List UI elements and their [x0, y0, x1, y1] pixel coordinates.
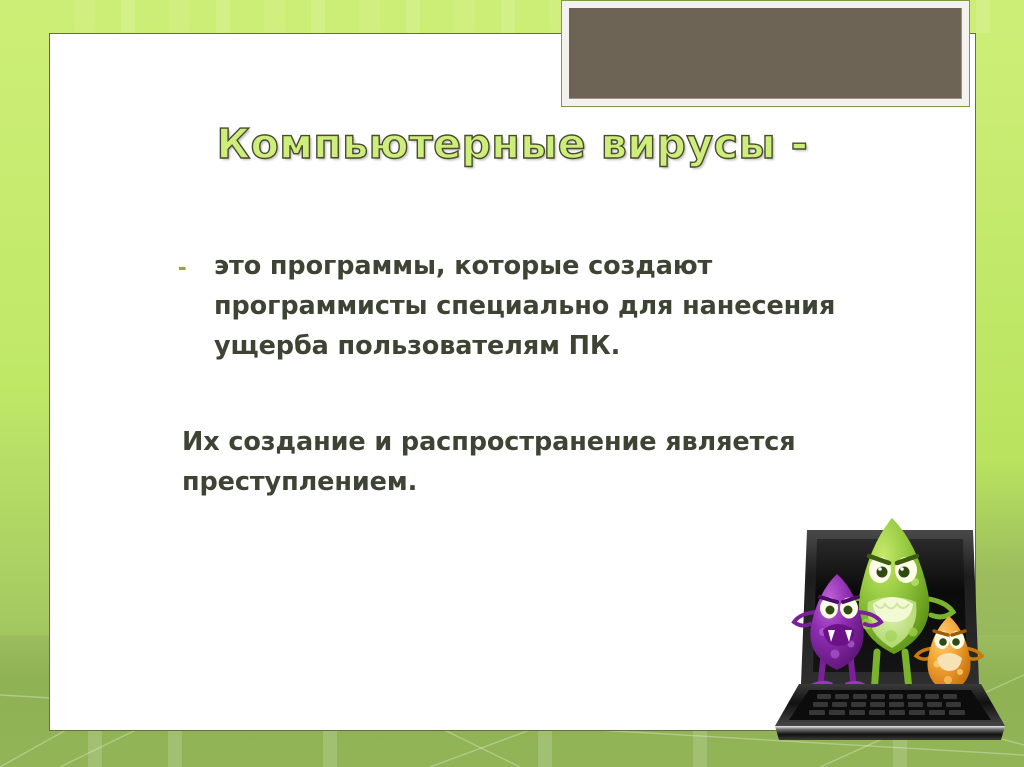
laptop-keyboard-base [775, 684, 1005, 740]
body-text-block: - это программы, которые создают програм… [168, 246, 868, 502]
content-card: Компьютерные вирусы - - это программы, к… [49, 33, 976, 731]
bullet-dash-icon: - [168, 246, 214, 286]
bullet-item: - это программы, которые создают програм… [168, 246, 868, 366]
header-accent-box [561, 0, 970, 107]
slide-background: Компьютерные вирусы - - это программы, к… [0, 0, 1024, 767]
page-title: Компьютерные вирусы - [50, 120, 975, 168]
paragraph-crime: Их создание и распространение является п… [182, 422, 868, 502]
paragraph-definition: это программы, которые создают программи… [214, 246, 868, 366]
laptop-virus-svg [765, 512, 1015, 757]
header-accent-box-inner [569, 8, 962, 99]
laptop-virus-illustration [765, 512, 1015, 757]
